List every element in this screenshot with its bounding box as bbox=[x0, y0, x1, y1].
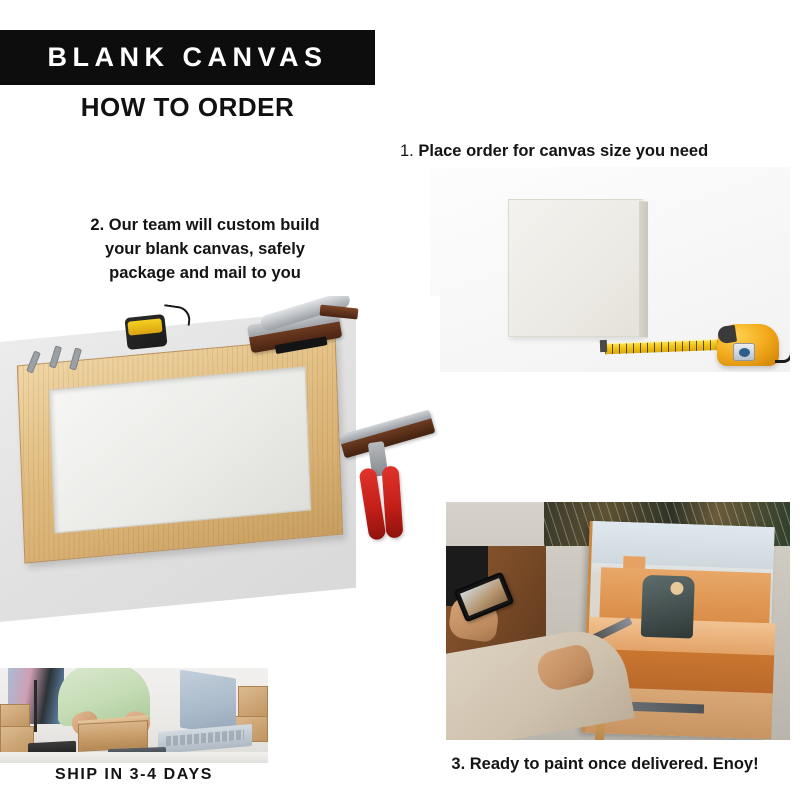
desk-surface bbox=[0, 752, 268, 763]
poster-root: BLANK CANVAS HOW TO ORDER 1. Place order… bbox=[0, 0, 800, 800]
clothing-rack-pole bbox=[34, 680, 37, 732]
blank-canvas-photo bbox=[430, 167, 790, 372]
step-2-caption: 2. Our team will custom build your blank… bbox=[40, 214, 370, 286]
small-tape-measure-cord bbox=[162, 304, 192, 326]
step-2-line-3: package and mail to you bbox=[40, 262, 370, 286]
cardboard-carton bbox=[238, 686, 268, 720]
wooden-stretcher-frame bbox=[17, 336, 343, 563]
stapler-head bbox=[339, 410, 436, 459]
step-1-text: Place order for canvas size you need bbox=[418, 142, 708, 160]
step-2-line-2: your blank canvas, safely bbox=[40, 238, 370, 262]
subtitle-block: HOW TO ORDER bbox=[0, 88, 375, 126]
page-title: BLANK CANVAS bbox=[48, 42, 328, 73]
step-2-line-1: 2. Our team will custom build bbox=[40, 214, 370, 238]
staple-gun-magazine-slot bbox=[275, 336, 328, 354]
painting-figure-shape bbox=[641, 575, 695, 639]
step-3-caption: 3. Ready to paint once delivered. Enoy! bbox=[420, 753, 790, 777]
tape-measure-hook-icon bbox=[600, 340, 607, 352]
artist-painting-photo bbox=[446, 502, 790, 740]
tape-measure-dial bbox=[733, 343, 755, 361]
page-subtitle: HOW TO ORDER bbox=[81, 92, 295, 123]
packing-box-photo bbox=[0, 668, 268, 763]
painting-sky-area bbox=[591, 521, 774, 569]
blank-canvas-square bbox=[508, 199, 643, 337]
stretched-canvas-surface bbox=[49, 366, 311, 533]
tape-measure-cord bbox=[775, 353, 790, 363]
stapler-red-handle bbox=[382, 465, 404, 538]
ship-in-days-label: SHIP IN 3-4 DAYS bbox=[0, 763, 268, 786]
title-banner: BLANK CANVAS bbox=[0, 30, 375, 85]
canvas-plier-stapler bbox=[340, 416, 440, 556]
canvas-side-edge bbox=[639, 201, 648, 338]
stretcher-frame-photo bbox=[0, 296, 440, 641]
cardboard-carton bbox=[0, 704, 30, 728]
step-1-number: 1. bbox=[400, 142, 414, 160]
step-1-caption: 1. Place order for canvas size you need bbox=[400, 140, 790, 164]
